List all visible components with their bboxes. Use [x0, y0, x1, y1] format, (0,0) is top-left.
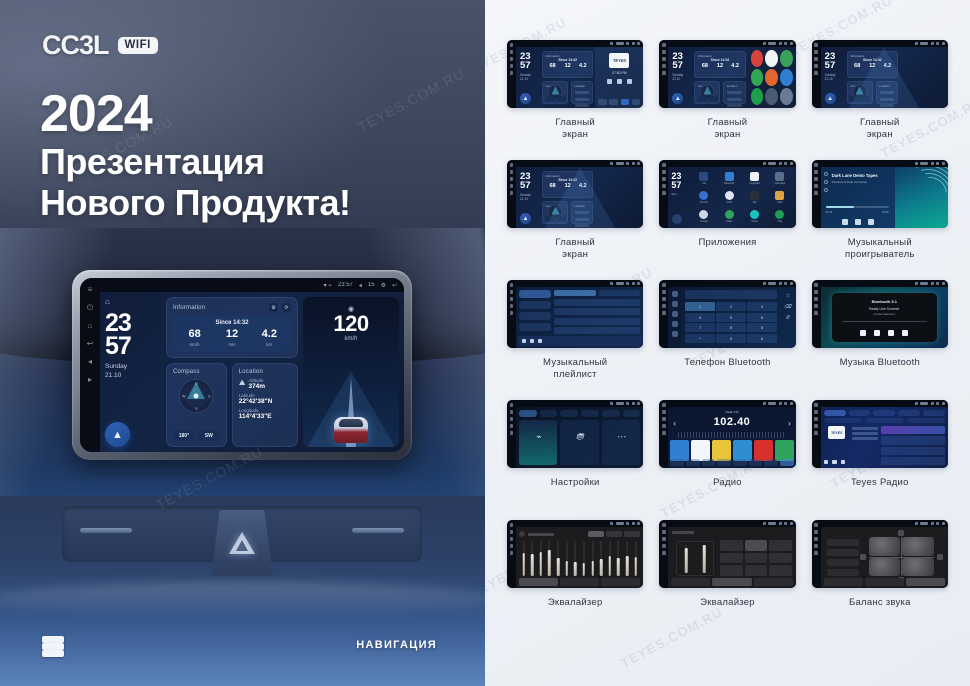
information-card[interactable]: Information Since 14:32 68124.2 [542, 51, 593, 78]
stop-icon[interactable] [832, 460, 837, 465]
navigation-arrow-icon[interactable]: ▲ [520, 93, 531, 104]
side-rail [812, 280, 821, 348]
eq-button[interactable] [717, 459, 731, 466]
gallery-caption: Teyes Радио [851, 477, 909, 489]
preset-button[interactable] [720, 553, 742, 564]
gallery-grid: 2357 Sunday21.10 ▲ Information Since 14:… [485, 0, 970, 654]
previous-icon[interactable] [842, 219, 848, 225]
filter-chip[interactable] [824, 418, 862, 423]
more-icon: ⋯ [617, 432, 626, 443]
equalizer-header [519, 530, 640, 538]
app-item[interactable]: Play [768, 207, 791, 225]
balance-up-button[interactable] [898, 530, 904, 536]
band-button[interactable] [670, 459, 684, 466]
eq-band[interactable] [615, 541, 622, 576]
compass-card[interactable]: Comp [694, 81, 720, 104]
pause-icon[interactable] [530, 339, 534, 343]
list-item[interactable] [881, 426, 945, 434]
list-item[interactable] [554, 327, 640, 334]
app-drawer[interactable]: 2357 Sun AM Bluetooth Keyboard Calculato… [668, 167, 795, 228]
watermark: TEYES.COM.RU [356, 65, 468, 135]
head-unit-screen[interactable]: ≡ ⏻ ⌂ ↩ ◂ ▸ ▾ ⌁ 23:57 ◂ 15 ⚙ [80, 278, 404, 452]
loc-button[interactable] [733, 459, 747, 466]
screenshot-thumbnail[interactable]: Bluetooth 5.1 Really Like Summer Contact… [812, 280, 948, 348]
app-item[interactable]: Files [768, 189, 791, 207]
information-card[interactable]: Information Since 14:32 68124.2 [694, 51, 745, 78]
call-icon[interactable]: ✆ [784, 314, 791, 321]
page-title: 2024 Презентация Нового Продукта! [40, 88, 351, 223]
status-bar [516, 280, 643, 287]
preset-button[interactable] [769, 540, 791, 551]
preset-button[interactable] [720, 540, 742, 551]
eq-band[interactable] [555, 541, 562, 576]
navigation-arrow-icon[interactable]: ▲ [105, 422, 130, 447]
tab-eq[interactable] [671, 578, 710, 586]
tab-settings[interactable] [923, 410, 945, 416]
tab-all[interactable] [554, 290, 596, 296]
next-station-icon[interactable]: › [788, 419, 791, 428]
trip-stat-unit: km [251, 342, 288, 347]
sub-sliders[interactable] [676, 541, 714, 576]
compass-s: S [195, 406, 198, 411]
volume-down-icon[interactable]: ◂ [86, 357, 95, 366]
clock-widget[interactable]: ⌂ 23 57 Sunday 21.10 ▲ [105, 297, 161, 447]
side-rail [507, 400, 516, 468]
app-shortcuts-widget[interactable] [748, 47, 796, 108]
trip-stat-value: 4.2 [251, 329, 288, 340]
sub-slider[interactable] [685, 542, 688, 575]
gallery-item[interactable]: Bluetooth 5.1 Really Like Summer Contact… [812, 280, 948, 400]
previous-icon[interactable] [522, 339, 526, 343]
tab-favorites[interactable] [599, 290, 641, 296]
balance-pad[interactable] [869, 537, 934, 576]
eq-preset-icon[interactable] [519, 531, 525, 537]
now-playing-panel[interactable]: TEYES [824, 426, 850, 465]
speaker-rear-right[interactable] [902, 558, 934, 577]
eq-band[interactable] [537, 541, 544, 576]
app-icon[interactable] [765, 50, 778, 67]
phone-sidebar[interactable] [668, 287, 682, 348]
wifi-card[interactable]: ⌁ [519, 420, 557, 465]
list-item[interactable] [554, 299, 640, 306]
balance-left-button[interactable] [860, 554, 866, 560]
status-bar [668, 40, 795, 47]
list-icon[interactable] [824, 172, 828, 176]
equalizer-toolbar[interactable] [671, 578, 792, 586]
readout-rear [827, 549, 859, 556]
clock-widget: 2357 [825, 52, 836, 70]
key-star[interactable]: * [685, 334, 714, 343]
previous-icon[interactable] [824, 460, 829, 465]
preset-button[interactable] [769, 565, 791, 576]
teyes-radio-screen[interactable]: TEYES [821, 407, 948, 468]
station-list[interactable] [881, 426, 945, 465]
app-icon[interactable] [780, 69, 793, 86]
apps-button[interactable] [780, 459, 794, 466]
eq-band-sliders[interactable] [520, 541, 639, 576]
app-icon[interactable] [751, 50, 764, 67]
list-button[interactable] [702, 459, 716, 466]
key-5[interactable]: 5 [716, 313, 745, 322]
speed-panel[interactable]: 105 km/h [840, 47, 928, 108]
key-hash[interactable]: # [747, 334, 776, 343]
tab-display[interactable] [560, 410, 578, 417]
tab-fade[interactable] [754, 578, 793, 586]
next-icon[interactable] [902, 330, 908, 336]
side-rail [507, 160, 516, 228]
gallery-item[interactable]: 2357 Sunday21.10 ▲ Information Since 14:… [812, 40, 948, 160]
hazard-button[interactable] [211, 510, 273, 576]
trip-stat: 4.2 km [251, 329, 288, 347]
eq-band[interactable] [624, 541, 631, 576]
gallery-item[interactable]: ⌁ ⛃ ⋯ Настройки [507, 400, 643, 520]
readout-front [827, 539, 859, 546]
screenshot-thumbnail[interactable]: ⌁ ⛃ ⋯ [507, 400, 643, 468]
screenshot-thumbnail[interactable]: 123 456 789 *0# ☆ ⌫ ✆ [659, 280, 795, 348]
app-icon[interactable] [780, 88, 793, 105]
radio-toolbar[interactable] [670, 459, 793, 466]
teyes-radio-tabs[interactable] [824, 410, 945, 416]
tab-fade[interactable] [906, 578, 945, 586]
equalizer-screen[interactable] [516, 527, 643, 588]
app-item[interactable]: Maps [718, 207, 741, 225]
status-bar [516, 40, 643, 47]
gallery-item[interactable]: Эквалайзер [507, 520, 643, 640]
status-clock: 23:57 [338, 282, 353, 288]
pause-icon[interactable] [855, 219, 861, 225]
key-9[interactable]: 9 [747, 323, 776, 332]
gallery-item[interactable]: Dark Lane Demo Tapes Pandora Arcade Acco… [812, 160, 948, 280]
balance-toolbar[interactable] [824, 578, 945, 586]
tab-sound[interactable] [540, 410, 558, 417]
tab-live[interactable] [824, 410, 846, 416]
location-card[interactable]: Location [723, 81, 745, 104]
app-icon[interactable] [765, 88, 778, 105]
app-item[interactable]: Music [743, 207, 766, 225]
settings-tabs[interactable] [519, 410, 640, 417]
preset-buttons[interactable] [720, 540, 791, 576]
preset-button[interactable] [720, 565, 742, 576]
settings-icon[interactable] [672, 331, 678, 337]
more-card[interactable]: ⋯ [602, 420, 640, 465]
media-controls[interactable] [832, 330, 936, 336]
preset-5[interactable] [754, 440, 773, 461]
menu-icon[interactable]: ≡ [86, 285, 95, 294]
preset-button[interactable] [745, 565, 767, 576]
progress-slider[interactable] [842, 321, 926, 322]
frequency-scale[interactable] [678, 432, 785, 438]
eq-band[interactable] [598, 541, 605, 576]
preset-3[interactable] [712, 440, 731, 461]
preset-button[interactable] [745, 553, 767, 564]
gallery-caption: Эквалайзер [700, 597, 755, 609]
volume-up-icon[interactable]: ▸ [86, 375, 95, 384]
screenshot-gallery-panel: TEYES.COM.RU TEYES.COM.RU TEYES.COM.RU T… [485, 0, 970, 686]
gallery-item[interactable]: Radio FM ‹ 102.40 › [659, 400, 795, 520]
album-art: TEYES [609, 53, 629, 68]
gallery-caption: Настройки [551, 477, 600, 489]
head-unit-content: ▾ ⌁ 23:57 ◂ 15 ⚙ ↩ ⌂ 23 57 [100, 278, 404, 452]
equalizer-sub-screen[interactable] [668, 527, 795, 588]
screenshot-thumbnail[interactable]: Dark Lane Demo Tapes Pandora Arcade Acco… [812, 160, 948, 228]
eq-band[interactable] [572, 541, 579, 576]
eq-band[interactable] [589, 541, 596, 576]
speaker-front-left[interactable] [869, 537, 901, 556]
volume-icon[interactable]: ◂ [359, 282, 362, 289]
screenshot-thumbnail[interactable] [507, 280, 643, 348]
screenshot-thumbnail[interactable]: Radio FM ‹ 102.40 › [659, 400, 795, 468]
app-item[interactable]: Chrome [692, 189, 715, 207]
backspace-icon[interactable]: ⌫ [784, 303, 791, 310]
home-icon[interactable]: ⌂ [105, 297, 161, 306]
trip-stat-unit: min [213, 342, 250, 347]
preset-pop[interactable] [624, 531, 640, 537]
speaker-front-right[interactable] [902, 537, 934, 556]
tab-system[interactable] [602, 410, 620, 417]
settings-screen[interactable]: ⌁ ⛃ ⋯ [516, 407, 643, 468]
eq-band[interactable] [520, 541, 527, 576]
clock-widget: 2357 [520, 172, 531, 190]
preset-1[interactable] [670, 440, 689, 461]
dialpad[interactable]: 123 456 789 *0# [685, 302, 776, 343]
media-controls[interactable] [821, 219, 895, 225]
navigation-arrow-icon[interactable]: ▲ [825, 93, 836, 104]
sidebar-item-tracks[interactable] [519, 290, 551, 298]
key-7[interactable]: 7 [685, 323, 714, 332]
app-item[interactable]: Google [692, 207, 715, 225]
location-value: 22°42'38"N [239, 398, 273, 405]
app-item[interactable]: Calculator [768, 170, 791, 188]
track-artist: Pandora Arcade Accordion [832, 180, 868, 184]
preset-button[interactable] [769, 553, 791, 564]
compass-card[interactable]: Comp [542, 81, 568, 104]
compass-heading-value: 180° [173, 430, 195, 441]
contacts-icon[interactable] [672, 301, 678, 307]
app-item[interactable]: Clock [718, 189, 741, 207]
volume-value: 15 [368, 282, 375, 288]
tab-eq[interactable] [519, 578, 558, 586]
gallery-item[interactable]: 2357 Sunday21.10 ▲ Information Since 14:… [507, 160, 643, 280]
location-card[interactable]: Location ⛰ Altitude 374m [232, 363, 298, 447]
preset-stations[interactable] [670, 440, 793, 461]
filter-chip[interactable] [907, 418, 945, 423]
list-item[interactable] [881, 436, 945, 444]
eq-band[interactable] [563, 541, 570, 576]
key-3[interactable]: 3 [747, 302, 776, 311]
search-button[interactable] [686, 459, 700, 466]
screenshot-thumbnail[interactable]: 2357 Sun AM Bluetooth Keyboard Calculato… [659, 160, 795, 228]
now-playing-bar[interactable] [518, 336, 641, 346]
call-log-icon[interactable] [672, 321, 678, 327]
screenshot-thumbnail[interactable]: 2357 Sunday21.10 ▲ Information Since 14:… [812, 40, 948, 108]
axis-vertical [901, 537, 902, 576]
screenshot-thumbnail[interactable] [507, 520, 643, 588]
equalizer-toolbar[interactable] [519, 578, 640, 586]
app-icon[interactable] [765, 69, 778, 86]
next-icon[interactable] [538, 339, 542, 343]
media-controls[interactable] [824, 460, 846, 465]
preset-4[interactable] [733, 440, 752, 461]
list-item[interactable] [881, 457, 945, 465]
speed-panel[interactable]: ◉ 120 km/h [303, 297, 399, 447]
list-item[interactable] [554, 318, 640, 325]
filter-chip[interactable] [865, 418, 903, 423]
brand-name: CC3L [42, 30, 109, 61]
head-unit-device[interactable]: ≡ ⏻ ⌂ ↩ ◂ ▸ ▾ ⌁ 23:57 ◂ 15 ⚙ [72, 270, 412, 460]
gear-icon[interactable]: ⚙ [381, 282, 386, 289]
preset-flat[interactable] [588, 531, 604, 537]
st-button[interactable] [749, 459, 763, 466]
repeat-icon[interactable] [824, 188, 828, 192]
tab-apps[interactable] [581, 410, 599, 417]
screenshot-thumbnail[interactable]: 2357 Sunday21.10 ▲ Information Since 14:… [659, 40, 795, 108]
dialpad-icon[interactable] [672, 291, 678, 297]
key-0[interactable]: 0 [716, 334, 745, 343]
gallery-item[interactable]: Музыкальныйплейлист [507, 280, 643, 400]
side-rail [659, 400, 668, 468]
presentation-page: CC3L WIFI 2024 Презентация Нового Продук… [0, 0, 970, 686]
gallery-item[interactable]: TEYES [812, 400, 948, 520]
key-4[interactable]: 4 [685, 313, 714, 322]
gallery-item[interactable]: 2357 Sunday21.10 ▲ Information Since 14:… [659, 40, 795, 160]
app-item[interactable]: AM [692, 170, 715, 188]
navigation-arrow-icon[interactable]: ▲ [520, 213, 531, 224]
compass-n: N [195, 381, 198, 386]
media-controls[interactable] [595, 79, 643, 84]
side-rail [812, 520, 821, 588]
screenshot-thumbnail[interactable]: TEYES [812, 400, 948, 468]
screenshot-thumbnail[interactable]: 2357 Sunday21.10 ▲ Information Since 14:… [507, 160, 643, 228]
refresh-icon[interactable]: ⟳ [282, 303, 291, 312]
power-icon[interactable]: ⏻ [86, 303, 95, 312]
tab-about[interactable] [623, 410, 641, 417]
list-item[interactable] [881, 447, 945, 455]
next-icon[interactable] [868, 219, 874, 225]
app-item[interactable]: Bluetooth [718, 170, 741, 188]
gear-icon[interactable]: ⚙ [269, 303, 278, 312]
tab-sub[interactable] [712, 578, 751, 586]
eq-band[interactable] [529, 541, 536, 576]
bluetooth-music-screen[interactable]: Bluetooth 5.1 Really Like Summer Contact… [821, 287, 948, 348]
gallery-item[interactable]: 123 456 789 *0# ☆ ⌫ ✆ [659, 280, 795, 400]
tab-genres[interactable] [873, 410, 895, 416]
playlist-screen[interactable] [516, 287, 643, 348]
location-value: 374m [248, 383, 265, 390]
information-card[interactable]: Information ⚙ ⟳ Since 14:32 [166, 297, 298, 358]
stop-icon[interactable] [888, 330, 894, 336]
list-item[interactable] [554, 308, 640, 315]
balance-right-button[interactable] [937, 554, 943, 560]
eq-band[interactable] [546, 541, 553, 576]
gallery-item[interactable]: Баланс звука [812, 520, 948, 640]
sidebar-item-folders[interactable] [519, 323, 551, 331]
brand-logo: CC3L WIFI [42, 30, 158, 61]
compass-card[interactable]: Compass N E S W [166, 363, 227, 447]
sound-balance-screen[interactable] [821, 527, 948, 588]
key-8[interactable]: 8 [716, 323, 745, 332]
tab-sub[interactable] [865, 578, 904, 586]
eq-band[interactable] [606, 541, 613, 576]
tab-podcasts[interactable] [849, 410, 871, 416]
speaker-rear-left[interactable] [869, 558, 901, 577]
back-icon[interactable]: ↩ [86, 339, 95, 348]
side-rail[interactable]: ≡ ⏻ ⌂ ↩ ◂ ▸ [80, 278, 100, 452]
app-icon[interactable] [751, 88, 764, 105]
app-item[interactable]: EQ [743, 189, 766, 207]
sidebar-item-artists[interactable] [519, 312, 551, 320]
sub-slider[interactable] [703, 542, 706, 575]
status-bar [668, 520, 795, 527]
radio-screen[interactable]: Radio FM ‹ 102.40 › [668, 407, 795, 468]
back-arrow-icon[interactable]: ↩ [392, 282, 397, 289]
music-player-screen[interactable]: Dark Lane Demo Tapes Pandora Arcade Acco… [821, 167, 948, 228]
tab-fade[interactable] [601, 578, 640, 586]
shuffle-icon[interactable] [824, 180, 828, 184]
app-item[interactable]: Keyboard [743, 170, 766, 188]
home-icon[interactable]: ⌂ [86, 321, 95, 330]
eq-band[interactable] [580, 541, 587, 576]
time-total: 03:45 [882, 211, 889, 214]
tab-wlan[interactable] [519, 410, 537, 417]
back-icon[interactable] [672, 214, 682, 224]
gallery-item[interactable]: 2357 Sun AM Bluetooth Keyboard Calculato… [659, 160, 795, 280]
tab-eq[interactable] [824, 578, 863, 586]
bluetooth-phone-screen[interactable]: 123 456 789 *0# ☆ ⌫ ✆ [668, 287, 795, 348]
layers-icon [42, 636, 68, 658]
key-2[interactable]: 2 [716, 302, 745, 311]
tab-countries[interactable] [898, 410, 920, 416]
screenshot-thumbnail[interactable] [659, 520, 795, 588]
sidebar-item-albums[interactable] [519, 301, 551, 309]
bluetooth-version-label: Bluetooth 5.1 [832, 299, 936, 304]
screenshot-thumbnail[interactable]: 2357 Sunday21.10 ▲ Information Since 14:… [507, 40, 643, 108]
key-6[interactable]: 6 [747, 313, 776, 322]
hud-icon: ◉ [348, 305, 354, 313]
headline-line-2: Нового Продукта! [40, 182, 351, 223]
media-widget[interactable]: TEYES 07:50 PM [595, 47, 643, 108]
search-icon[interactable] [672, 311, 678, 317]
gallery-item[interactable]: 2357 Sunday21.10 ▲ Information Since 14:… [507, 40, 643, 160]
af-button[interactable] [764, 459, 778, 466]
tab-sub[interactable] [560, 578, 599, 586]
status-bar [821, 40, 948, 47]
screenshot-thumbnail[interactable] [812, 520, 948, 588]
app-icon[interactable] [780, 50, 793, 67]
clock-minutes: 57 [105, 335, 161, 358]
phone-number-field[interactable] [685, 290, 776, 299]
location-card[interactable]: Location [571, 81, 593, 104]
readout-right [827, 569, 859, 576]
preset-6[interactable] [775, 440, 794, 461]
carplay-card[interactable]: ⛃ [560, 420, 598, 465]
preset-rock[interactable] [606, 531, 622, 537]
compass-w: W [182, 394, 186, 399]
progress-slider[interactable] [826, 206, 889, 208]
gallery-item[interactable]: Эквалайзер [659, 520, 795, 640]
app-icon[interactable] [751, 69, 764, 86]
speed-panel[interactable]: 120 km/h [536, 167, 624, 228]
eq-band[interactable] [632, 541, 639, 576]
favorite-icon[interactable]: ☆ [784, 292, 791, 299]
next-icon[interactable] [841, 460, 846, 465]
play-pause-icon[interactable] [874, 330, 880, 336]
mountain-icon: ⛰ [239, 378, 246, 388]
preset-button[interactable] [745, 540, 767, 551]
preset-2[interactable] [691, 440, 710, 461]
previous-icon[interactable] [860, 330, 866, 336]
gallery-caption: Главныйэкран [555, 117, 595, 141]
key-1[interactable]: 1 [685, 302, 714, 311]
